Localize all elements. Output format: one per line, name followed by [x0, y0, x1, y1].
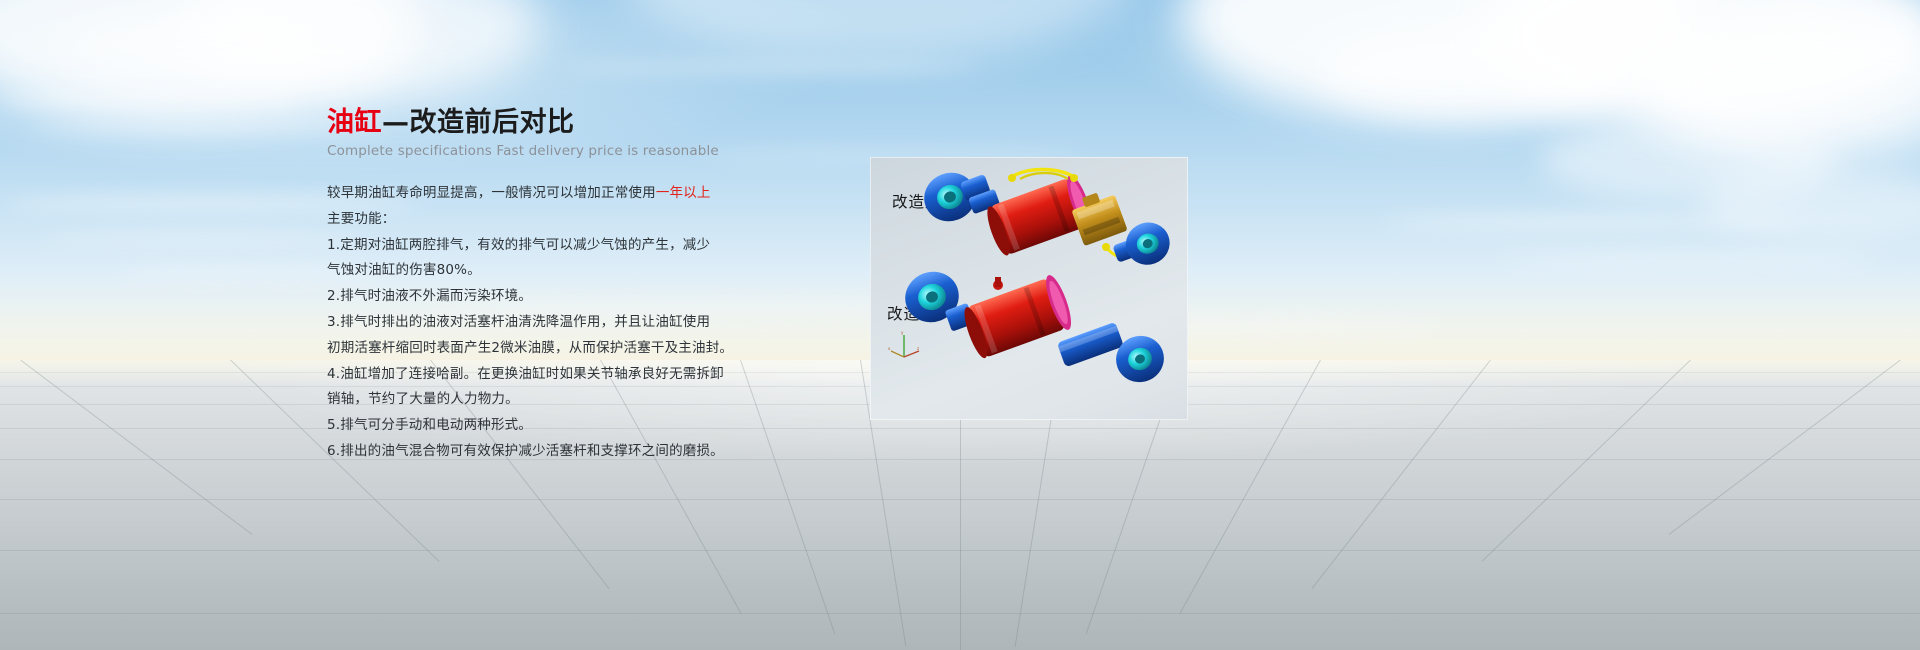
list-item: 6.排出的油气混合物可有效保护减少活塞杆和支撑环之间的磨损。	[327, 439, 797, 465]
page-title-highlight: 油缸	[327, 107, 382, 138]
list-item: 4.油缸增加了连接哈副。在更换油缸时如果关节轴承良好无需拆卸	[327, 362, 797, 388]
list-item: 初期活塞杆缩回时表面产生2微米油膜，从而保护活塞干及主油封。	[327, 336, 797, 362]
list-item: 5.排气可分手动和电动两种形式。	[327, 413, 797, 439]
banner-text-block: 油缸—改造前后对比 Complete specifications Fast d…	[327, 106, 797, 465]
page-title: 油缸—改造前后对比	[327, 106, 797, 140]
list-item: 气蚀对油缸的伤害80%。	[327, 258, 797, 284]
cad-comparison-panel: 改造后 改造前 y x z	[870, 157, 1188, 420]
list-item: 2.排气时油液不外漏而污染环境。	[327, 284, 797, 310]
list-item: 1.定期对油缸两腔排气，有效的排气可以减少气蚀的产生，减少	[327, 233, 797, 259]
banner-stage: 油缸—改造前后对比 Complete specifications Fast d…	[0, 0, 1920, 650]
cad-model-before	[892, 267, 1167, 385]
list-item: 3.排气时排出的油液对活塞杆油清洗降温作用，并且让油缸使用	[327, 310, 797, 336]
page-subtitle: Complete specifications Fast delivery pr…	[327, 143, 797, 159]
feature-list: 较早期油缸寿命明显提高，一般情况可以增加正常使用一年以上 主要功能： 1.定期对…	[327, 181, 797, 465]
svg-text:x: x	[888, 346, 891, 351]
highlight-text: 一年以上	[656, 185, 711, 201]
page-title-rest: —改造前后对比	[382, 107, 575, 138]
list-item: 销轴，节约了大量的人力物力。	[327, 387, 797, 413]
cad-model-after	[908, 163, 1170, 281]
list-item: 较早期油缸寿命明显提高，一般情况可以增加正常使用一年以上	[327, 181, 797, 207]
list-item: 主要功能：	[327, 207, 797, 233]
